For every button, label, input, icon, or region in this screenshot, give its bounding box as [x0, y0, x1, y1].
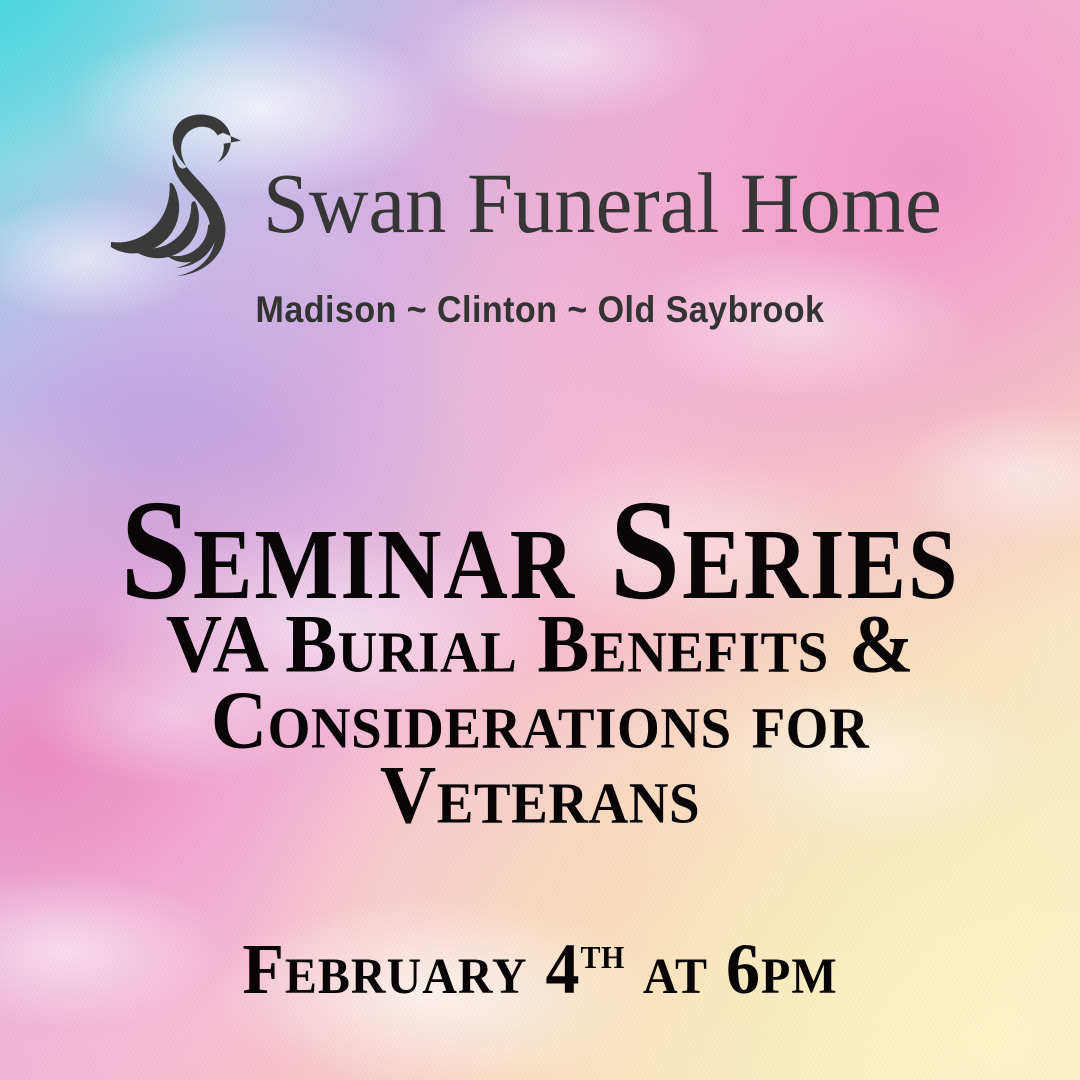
event-date-ordinal: th — [581, 929, 625, 979]
brand-lockup: Swan Funeral Home Madison ~ Clinton ~ Ol… — [0, 108, 1080, 328]
subject-line-3: Veterans — [0, 755, 1080, 835]
event-date-prefix: February 4 — [242, 928, 580, 1009]
poster-content: Swan Funeral Home Madison ~ Clinton ~ Ol… — [0, 0, 1080, 1080]
brand-locations: Madison ~ Clinton ~ Old Saybrook — [43, 291, 1037, 328]
swan-logo-icon — [111, 110, 279, 282]
event-datetime: February 4th at 6pm — [0, 932, 1080, 1005]
seminar-subject: VA Burial Benefits & Considerations for … — [0, 606, 1080, 833]
poster-canvas: Swan Funeral Home Madison ~ Clinton ~ Ol… — [0, 0, 1080, 1080]
event-time-suffix: at 6pm — [643, 928, 838, 1009]
logo-row: Swan Funeral Home — [111, 108, 970, 282]
brand-name: Swan Funeral Home — [263, 160, 942, 246]
subject-line-1: VA Burial Benefits & — [0, 604, 1080, 684]
